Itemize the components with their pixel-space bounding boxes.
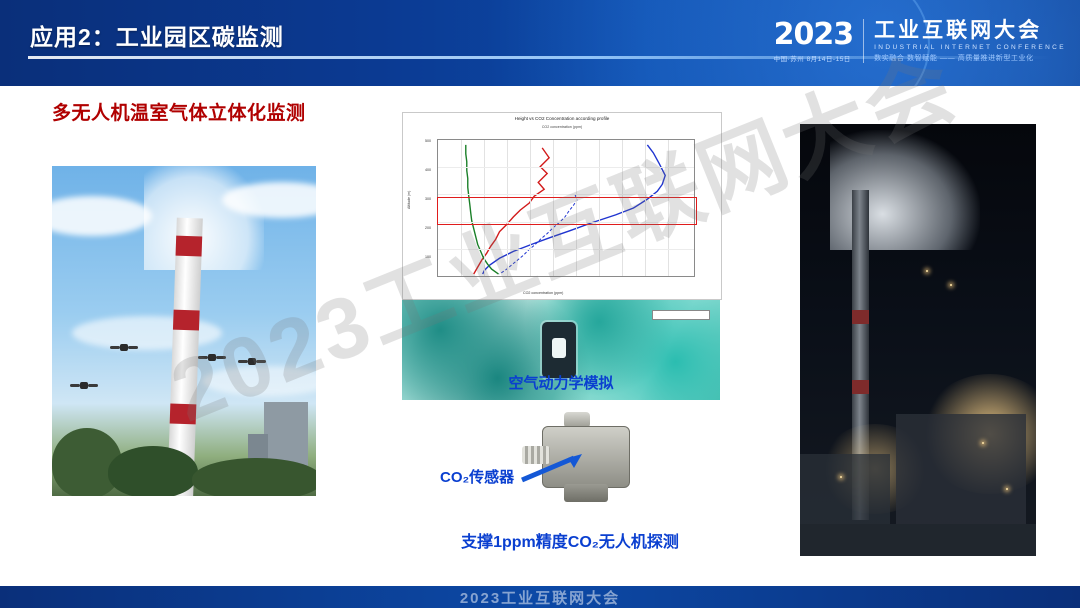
plant-building [896,414,1026,534]
caption-cfd: 空气动力学模拟 [402,372,720,393]
photo-plant-night [800,124,1036,556]
chart-ytick: 300 [425,197,431,201]
stack-band [170,404,197,425]
chart-title: Height vs CO2 Concentration according pr… [403,116,721,121]
plant-ground [800,524,1036,556]
stack-band [173,310,200,331]
drone-icon [110,344,138,352]
chart-ylabel: Altitude (m) [407,191,411,209]
chart-highlight-box [437,197,697,225]
photo-smokestack-daytime [52,166,316,496]
tree [192,458,316,496]
conference-logo: 2023 中国·苏州 8月14日-15日 工业互联网大会 INDUSTRIAL … [774,10,1066,72]
cfd-legend [652,310,710,320]
cloud [52,196,152,236]
section-title: 多无人机温室气体立体化监测 [52,98,306,125]
drone-icon [198,354,226,362]
chart-ytick: 400 [425,168,431,172]
page-title: 应用2：工业园区碳监测 [30,18,284,52]
logo-name-cn: 工业互联网大会 [874,20,1066,42]
tree [108,446,198,496]
chart-xlabel: CO2 concentration (ppm) [523,291,563,295]
caption-bottom: 支撑1ppm精度CO₂无人机探测 [402,528,738,552]
label-co2-sensor: CO₂传感器 [440,466,514,487]
slide-header: 应用2：工业园区碳监测 2023 中国·苏州 8月14日-15日 工业互联网大会… [0,0,1080,86]
smoke-plume [144,166,264,270]
plant-building [800,454,890,534]
chart-ytick: 100 [425,255,431,259]
chart-subtitle: CO2 concentration (ppm) [403,125,721,129]
logo-name-en: INDUSTRIAL INTERNET CONFERENCE [874,45,1066,52]
logo-year: 2023 [774,20,854,50]
slide-footer: 2023工业互联网大会 [0,586,1080,608]
cloud [202,366,316,396]
cloud [72,316,222,350]
co2-profile-chart: Height vs CO2 Concentration according pr… [402,112,722,300]
cfd-object [542,322,576,378]
logo-year-subtitle: 中国·苏州 8月14日-15日 [774,53,854,63]
chart-ytick: 200 [425,226,431,230]
pointer-arrow-icon [520,452,590,488]
footer-text: 2023工业互联网大会 [0,587,1080,608]
logo-divider [863,19,864,63]
chart-ytick: 500 [425,139,431,143]
drone-icon [238,358,266,366]
drone-icon [70,382,98,390]
stack-band [176,236,203,257]
logo-tagline: 数实融合 数智赋能 —— 高质量推进新型工业化 [874,55,1066,62]
